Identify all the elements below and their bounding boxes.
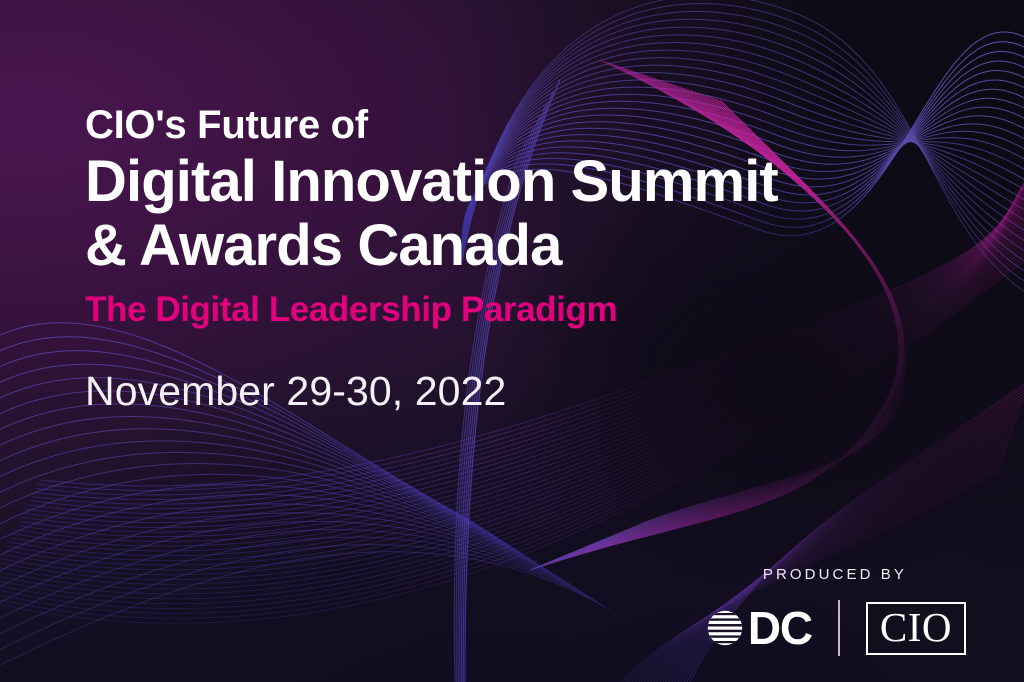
idc-logo: DC [704, 605, 812, 651]
producer-block: PRODUCED BY [704, 566, 966, 656]
idc-wordmark: DC [748, 605, 812, 651]
tagline-text: The Digital Leadership Paradigm [85, 291, 965, 330]
logo-row: DC CIO [704, 600, 966, 656]
banner-text-block: CIO's Future of Digital Innovation Summi… [85, 104, 965, 414]
headline-line-1: Digital Innovation Summit [85, 149, 778, 214]
idc-globe-icon [704, 607, 746, 649]
cio-wordmark: CIO [880, 607, 952, 648]
logo-divider [838, 600, 840, 656]
produced-by-label: PRODUCED BY [763, 566, 907, 583]
event-promo-banner: CIO's Future of Digital Innovation Summi… [0, 0, 1024, 682]
eyebrow-text: CIO's Future of [85, 104, 965, 146]
cio-logo: CIO [866, 602, 966, 655]
headline-line-2: & Awards Canada [85, 214, 965, 277]
page-title: Digital Innovation Summit & Awards Canad… [85, 150, 965, 276]
event-date: November 29-30, 2022 [85, 369, 965, 414]
